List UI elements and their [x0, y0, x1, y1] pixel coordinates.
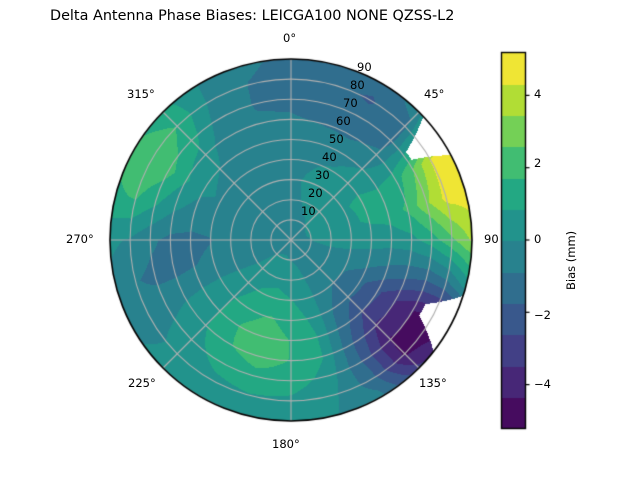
figure-canvas-area: Delta Antenna Phase Biases: LEICGA100 NO…: [0, 0, 640, 480]
polar-contour-plot[interactable]: [0, 0, 640, 480]
